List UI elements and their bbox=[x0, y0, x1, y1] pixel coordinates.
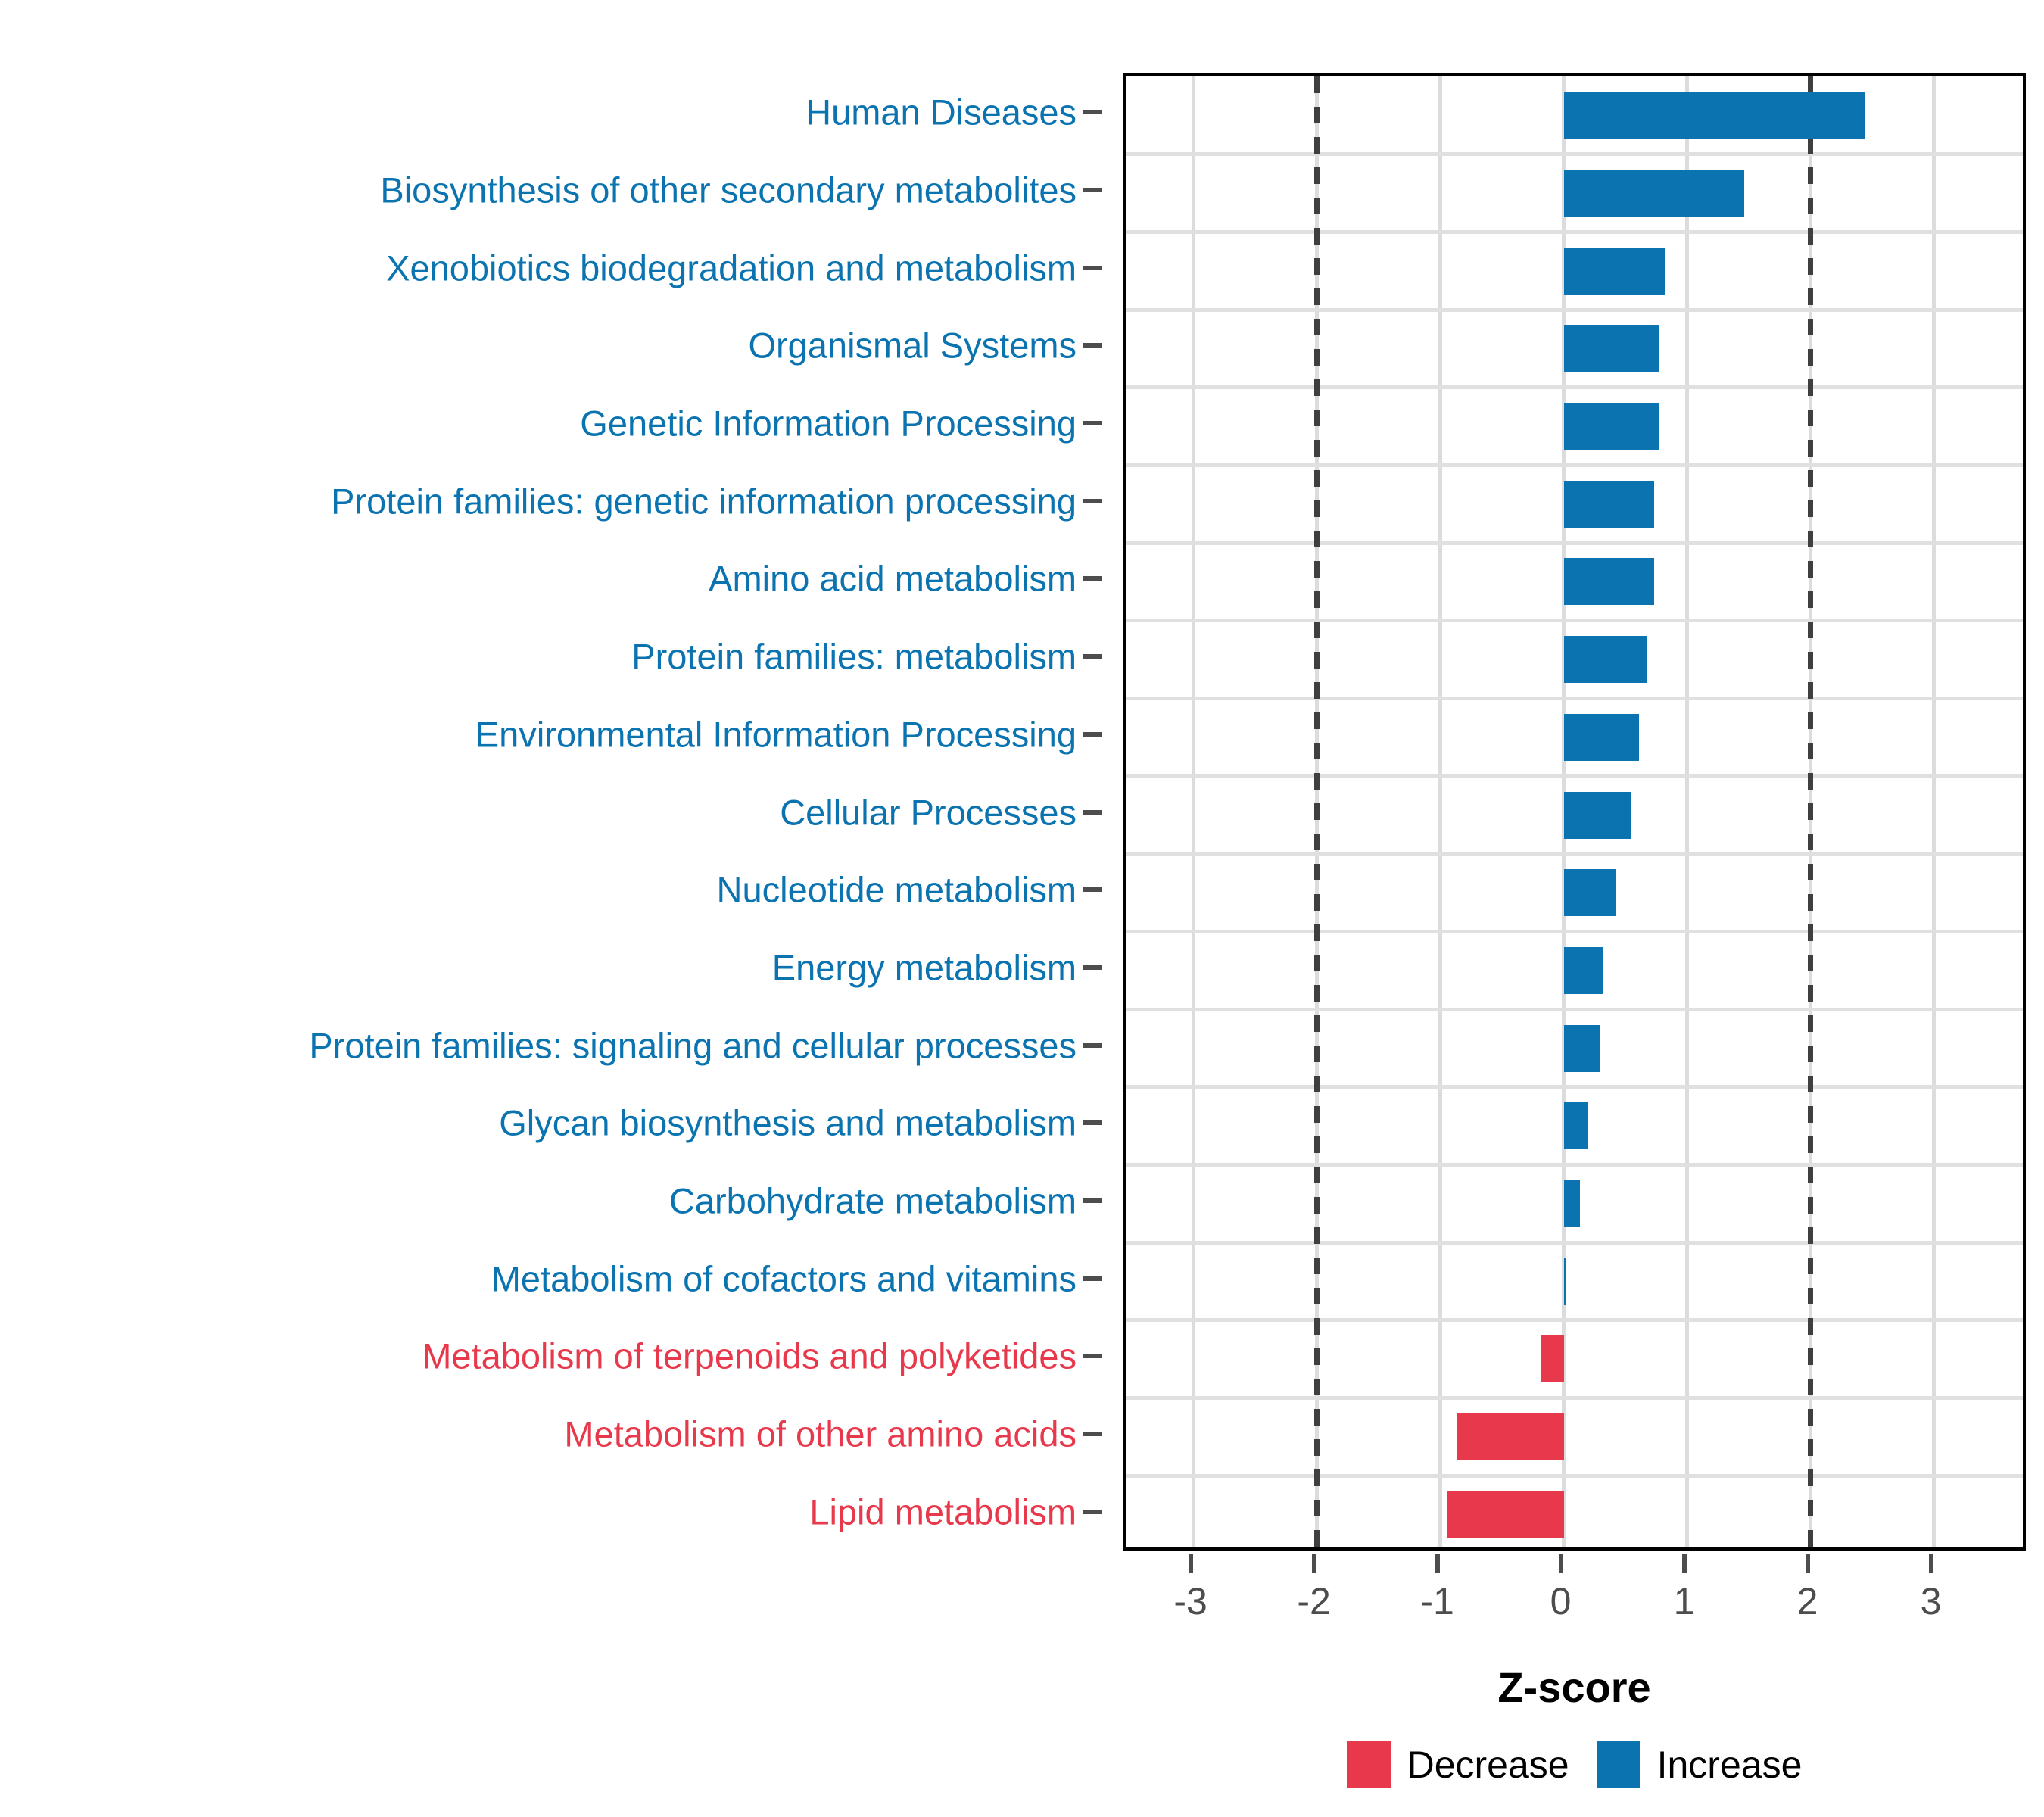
y-axis-tick bbox=[1083, 1043, 1102, 1048]
legend-color-swatch bbox=[1347, 1741, 1391, 1788]
bar bbox=[1564, 481, 1654, 528]
gridline-horizontal bbox=[1126, 385, 2023, 389]
bar bbox=[1564, 869, 1616, 916]
x-axis-tick bbox=[1559, 1554, 1563, 1573]
bar bbox=[1447, 1491, 1564, 1538]
legend-label: Increase bbox=[1657, 1743, 1803, 1787]
bar bbox=[1564, 170, 1744, 217]
y-axis-tick bbox=[1083, 266, 1102, 270]
y-axis-category-label: Energy metabolism bbox=[772, 949, 1077, 985]
x-axis-tick bbox=[1312, 1554, 1316, 1573]
bar bbox=[1564, 403, 1659, 450]
plot-panel bbox=[1123, 73, 2026, 1551]
bar bbox=[1541, 1335, 1563, 1382]
y-axis-tick bbox=[1083, 499, 1102, 503]
x-axis-tick bbox=[1682, 1554, 1687, 1573]
y-axis-category-label: Human Diseases bbox=[805, 95, 1077, 130]
y-axis-category-label: Organismal Systems bbox=[748, 328, 1077, 363]
y-axis-category-label: Environmental Information Processing bbox=[475, 716, 1077, 752]
gridline-vertical bbox=[1192, 76, 1195, 1547]
reference-line bbox=[1314, 76, 1320, 1547]
y-axis-tick bbox=[1083, 732, 1102, 737]
y-axis-tick bbox=[1083, 110, 1102, 114]
bar bbox=[1457, 1413, 1564, 1460]
y-axis-category-label: Lipid metabolism bbox=[809, 1494, 1077, 1529]
y-axis-tick bbox=[1083, 887, 1102, 892]
y-axis-category-label: Metabolism of other amino acids bbox=[564, 1416, 1077, 1451]
gridline-horizontal bbox=[1126, 308, 2023, 312]
x-axis-tick bbox=[1806, 1554, 1810, 1573]
x-axis-tick bbox=[1435, 1554, 1440, 1573]
y-axis-category-label: Protein families: genetic information pr… bbox=[331, 483, 1077, 519]
gridline-horizontal bbox=[1126, 541, 2023, 545]
gridline-horizontal bbox=[1126, 852, 2023, 856]
gridline-horizontal bbox=[1126, 152, 2023, 156]
gridline-horizontal bbox=[1126, 1008, 2023, 1011]
x-axis-tick bbox=[1929, 1554, 1933, 1573]
legend-color-swatch bbox=[1597, 1741, 1640, 1788]
gridline-vertical bbox=[1438, 76, 1442, 1547]
y-axis-category-label: Nucleotide metabolism bbox=[717, 872, 1077, 908]
bar bbox=[1564, 92, 1865, 139]
bar bbox=[1564, 558, 1654, 605]
gridline-horizontal bbox=[1126, 1163, 2023, 1167]
bar bbox=[1564, 1180, 1580, 1227]
gridline-horizontal bbox=[1126, 774, 2023, 778]
y-axis-tick bbox=[1083, 654, 1102, 659]
bar bbox=[1564, 714, 1639, 761]
legend-item: Decrease bbox=[1347, 1741, 1569, 1788]
y-axis-tick bbox=[1083, 1510, 1102, 1514]
y-axis-category-label: Protein families: signaling and cellular… bbox=[309, 1027, 1077, 1063]
gridline-horizontal bbox=[1126, 697, 2023, 700]
y-axis-category-label: Biosynthesis of other secondary metaboli… bbox=[380, 173, 1077, 208]
y-axis-tick bbox=[1083, 810, 1102, 815]
y-axis-category-label: Xenobiotics biodegradation and metabolis… bbox=[386, 250, 1077, 285]
y-axis-labels: Human DiseasesBiosynthesis of other seco… bbox=[0, 73, 1105, 1551]
bar bbox=[1564, 1102, 1589, 1149]
chart-legend: DecreaseIncrease bbox=[1123, 1741, 2026, 1788]
gridline-horizontal bbox=[1126, 1474, 2023, 1478]
x-axis-tick bbox=[1189, 1554, 1193, 1573]
y-axis-tick bbox=[1083, 965, 1102, 970]
x-axis-tick-label: 0 bbox=[1550, 1579, 1572, 1623]
y-axis-category-label: Metabolism of terpenoids and polyketides bbox=[422, 1339, 1077, 1374]
bar bbox=[1564, 792, 1631, 839]
y-axis-tick bbox=[1083, 1354, 1102, 1358]
y-axis-tick bbox=[1083, 343, 1102, 348]
figure-root: Human DiseasesBiosynthesis of other seco… bbox=[0, 0, 2044, 1817]
x-axis-tick-label: -1 bbox=[1420, 1579, 1454, 1623]
bar bbox=[1564, 1258, 1566, 1305]
x-axis-tick-label: -3 bbox=[1173, 1579, 1207, 1623]
legend-label: Decrease bbox=[1407, 1743, 1569, 1787]
gridline-vertical bbox=[1932, 76, 1936, 1547]
y-axis-category-label: Cellular Processes bbox=[780, 794, 1077, 830]
bar bbox=[1564, 636, 1648, 683]
gridline-horizontal bbox=[1126, 1085, 2023, 1089]
bar bbox=[1564, 947, 1603, 994]
x-axis-title: Z-score bbox=[1123, 1663, 2026, 1712]
y-axis-tick bbox=[1083, 188, 1102, 192]
x-axis-tick-label: 1 bbox=[1674, 1579, 1695, 1623]
y-axis-category-label: Carbohydrate metabolism bbox=[669, 1183, 1077, 1218]
reference-line bbox=[1808, 76, 1813, 1547]
y-axis-category-label: Metabolism of cofactors and vitamins bbox=[491, 1261, 1077, 1296]
y-axis-category-label: Protein families: metabolism bbox=[631, 639, 1077, 675]
y-axis-tick bbox=[1083, 1198, 1102, 1203]
x-axis-tick-label: -2 bbox=[1297, 1579, 1330, 1623]
gridline-horizontal bbox=[1126, 619, 2023, 622]
y-axis-category-label: Genetic Information Processing bbox=[580, 406, 1077, 441]
bar bbox=[1564, 325, 1659, 372]
y-axis-tick bbox=[1083, 1120, 1102, 1125]
gridline-horizontal bbox=[1126, 463, 2023, 467]
gridline-horizontal bbox=[1126, 1396, 2023, 1400]
gridline-horizontal bbox=[1126, 1241, 2023, 1245]
gridline-vertical bbox=[1685, 76, 1689, 1547]
gridline-horizontal bbox=[1126, 930, 2023, 933]
y-axis-tick bbox=[1083, 421, 1102, 425]
x-axis-tick-label: 3 bbox=[1921, 1579, 1942, 1623]
legend-item: Increase bbox=[1597, 1741, 1803, 1788]
bar bbox=[1564, 1025, 1600, 1072]
bar bbox=[1564, 248, 1665, 295]
x-axis-tick-label: 2 bbox=[1797, 1579, 1818, 1623]
y-axis-category-label: Glycan biosynthesis and metabolism bbox=[499, 1105, 1077, 1141]
gridline-horizontal bbox=[1126, 230, 2023, 234]
y-axis-tick bbox=[1083, 576, 1102, 581]
y-axis-tick bbox=[1083, 1432, 1102, 1436]
gridline-horizontal bbox=[1126, 1318, 2023, 1322]
y-axis-category-label: Amino acid metabolism bbox=[709, 561, 1077, 597]
y-axis-tick bbox=[1083, 1276, 1102, 1281]
